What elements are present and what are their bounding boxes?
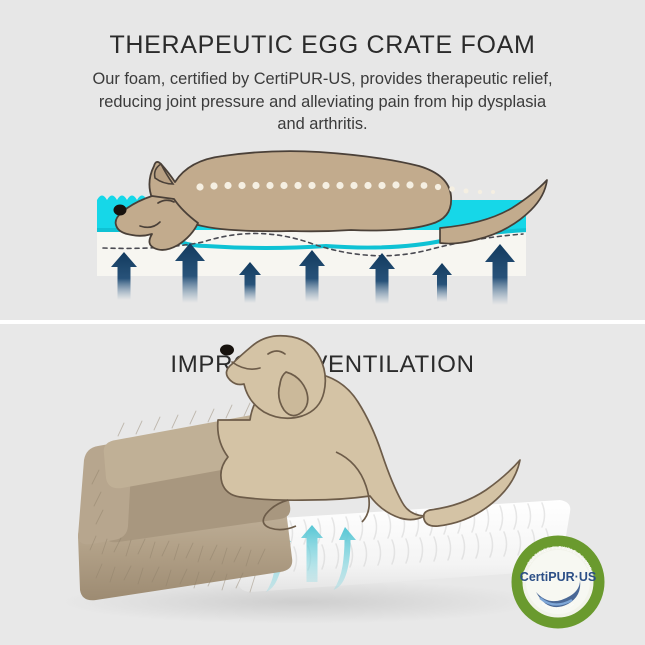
subtitle-line-2: reducing joint pressure and alleviating … — [22, 91, 623, 114]
dog-nose — [114, 205, 127, 216]
improved-ventilation-panel: IMPROVED VENTILATION — [0, 324, 645, 645]
certipur-us-badge: CLEAN · AIDED · CERTIFIED FLEXIBLE POLYU… — [516, 540, 600, 624]
dog-head-bottom — [226, 336, 325, 419]
subtitle-block: Our foam, certified by CertiPUR-US, prov… — [22, 68, 623, 136]
therapeutic-foam-panel: THERAPEUTIC EGG CRATE FOAM Our foam, cer… — [0, 0, 645, 320]
subtitle-line-3: and arthritis. — [22, 113, 623, 136]
dog-nose-bottom — [220, 345, 234, 356]
dog-body — [149, 151, 451, 231]
foam-cross-section-illustration — [0, 140, 645, 320]
page-title: THERAPEUTIC EGG CRATE FOAM — [0, 31, 645, 60]
badge-wordmark: CertiPUR·US — [520, 570, 596, 584]
ventilation-illustration: CLEAN · AIDED · CERTIFIED FLEXIBLE POLYU… — [0, 324, 645, 645]
subtitle-line-1: Our foam, certified by CertiPUR-US, prov… — [22, 68, 623, 91]
